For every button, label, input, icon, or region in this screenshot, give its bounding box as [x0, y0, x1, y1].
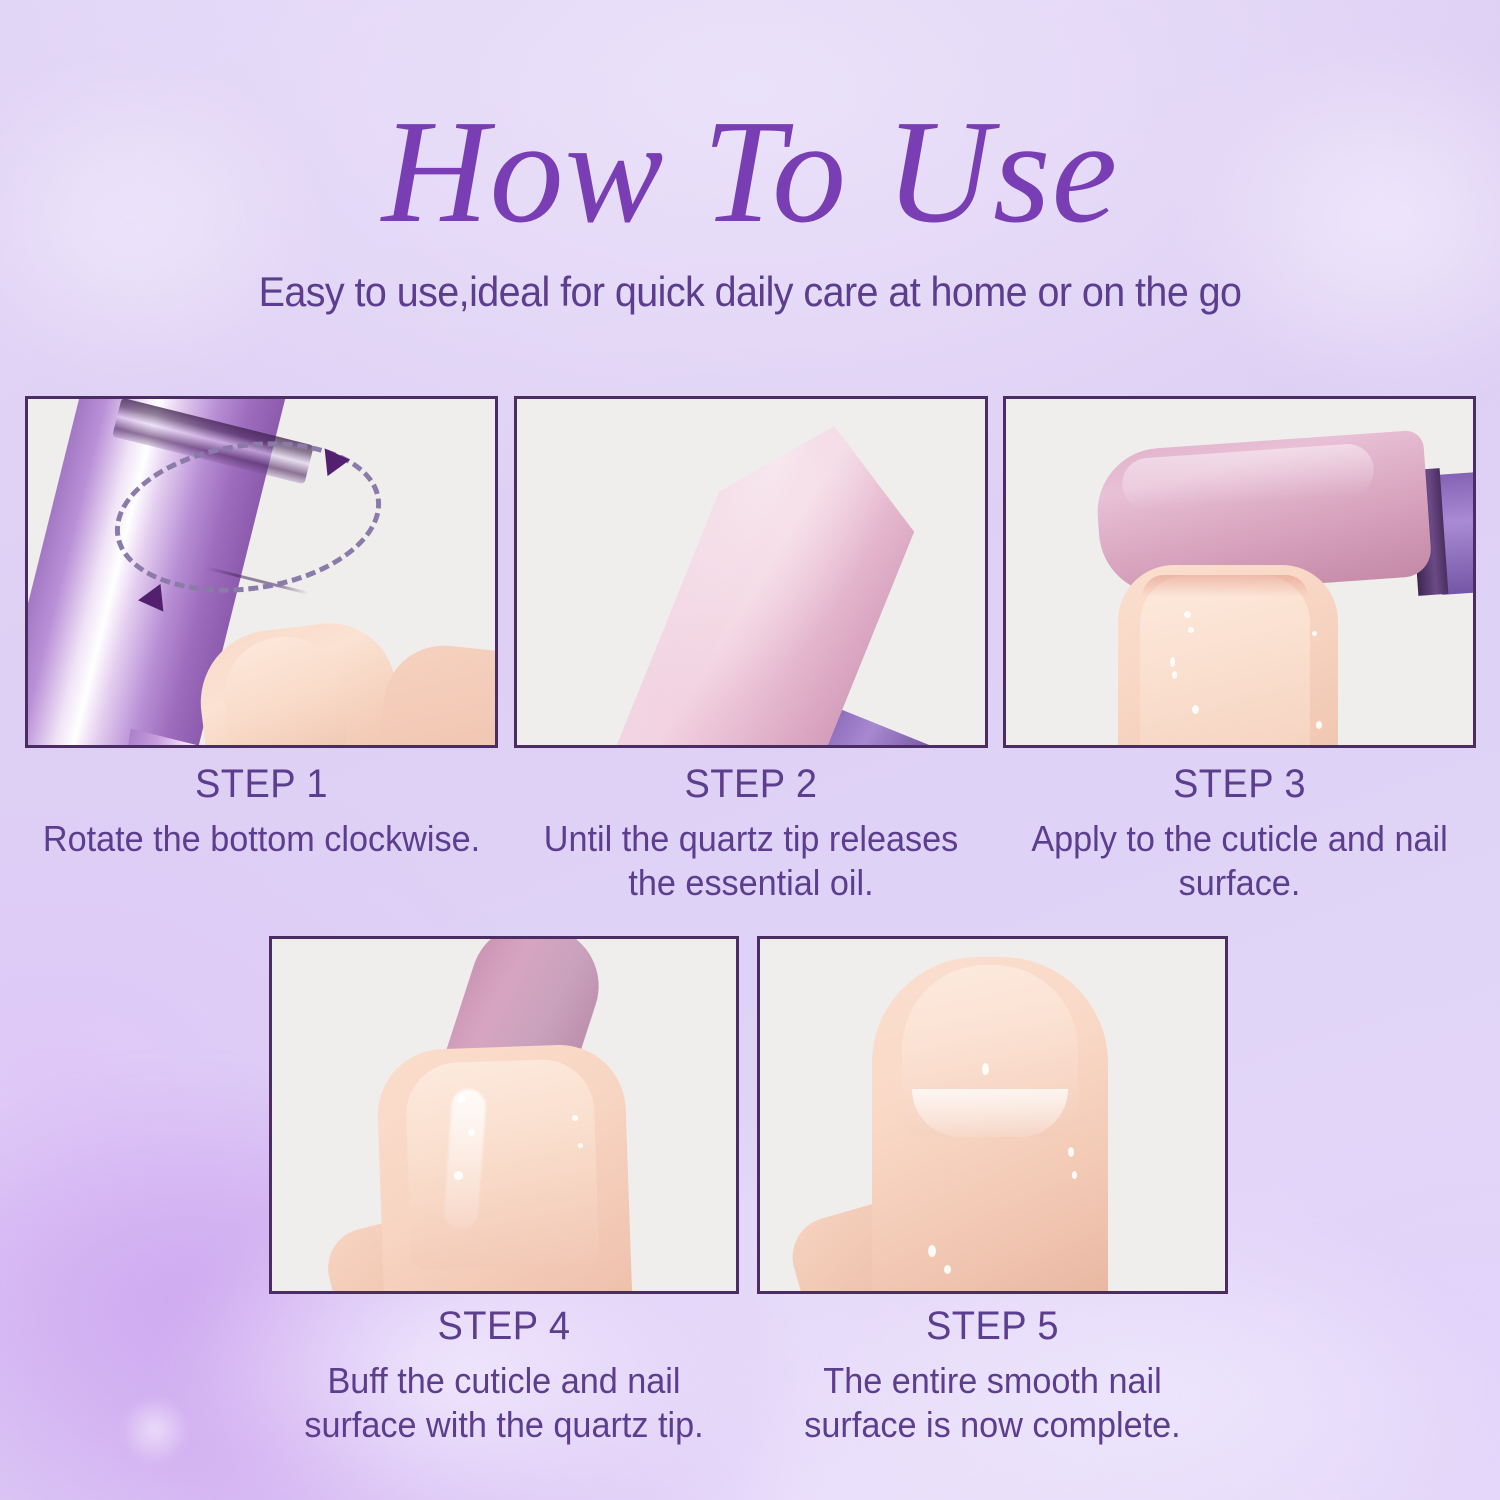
rotation-arrowhead-top-icon	[325, 446, 352, 476]
oil-droplet	[928, 1245, 936, 1257]
step-4-caption: STEP 4 Buff the cuticle and nail surface…	[269, 1304, 739, 1447]
nail-shape	[1140, 575, 1310, 748]
nail-highlight	[912, 1089, 1068, 1137]
oil-droplet	[454, 1171, 463, 1180]
step-3-image	[1003, 396, 1476, 748]
step-3-description: Apply to the cuticle and nail surface.	[1015, 817, 1464, 905]
step-4-description: Buff the cuticle and nail surface with t…	[281, 1359, 728, 1447]
step-2-illustration	[517, 399, 985, 745]
oil-droplet	[468, 1129, 475, 1136]
cuticle-shape	[1142, 575, 1308, 597]
step-1-description: Rotate the bottom clockwise.	[37, 817, 486, 861]
step-5-image	[757, 936, 1228, 1294]
oil-droplet	[1312, 631, 1317, 636]
step-5-illustration	[760, 939, 1225, 1291]
oil-droplet	[944, 1265, 951, 1274]
oil-droplet	[1184, 611, 1191, 618]
oil-droplet	[1172, 671, 1177, 679]
step-2-description: Until the quartz tip releases the essent…	[526, 817, 976, 905]
step-2-caption: STEP 2 Until the quartz tip releases the…	[514, 762, 988, 905]
quartz-tip-highlight	[608, 396, 940, 748]
oil-droplet	[1068, 1147, 1074, 1157]
step-2-image	[514, 396, 988, 748]
step-1-caption: STEP 1 Rotate the bottom clockwise.	[25, 762, 498, 861]
step-2-label: STEP 2	[526, 762, 976, 807]
step-1-image	[25, 396, 498, 748]
oil-droplet	[572, 1115, 578, 1121]
step-1-illustration	[28, 399, 495, 745]
oil-droplet	[1192, 705, 1199, 714]
step-3-label: STEP 3	[1015, 762, 1464, 807]
how-to-use-infographic: How To Use Easy to use,ideal for quick d…	[0, 0, 1500, 1500]
step-3-caption: STEP 3 Apply to the cuticle and nail sur…	[1003, 762, 1476, 905]
oil-droplet	[1188, 627, 1194, 633]
nail-shape	[404, 1058, 599, 1270]
step-5-description: The entire smooth nail surface is now co…	[769, 1359, 1216, 1447]
step-4-image	[269, 936, 739, 1294]
step-3-illustration	[1006, 399, 1473, 745]
page-subtitle: Easy to use,ideal for quick daily care a…	[45, 268, 1455, 316]
rotation-arrowhead-bottom-icon	[137, 584, 164, 614]
oil-droplet	[1170, 657, 1175, 667]
oil-droplet	[982, 1063, 989, 1075]
oil-droplet	[458, 1095, 466, 1103]
step-5-label: STEP 5	[769, 1304, 1216, 1349]
page-title: How To Use	[0, 98, 1500, 246]
index-finger-shape	[370, 640, 498, 748]
oil-droplet	[1072, 1171, 1077, 1179]
oil-droplet	[578, 1143, 583, 1148]
step-5-caption: STEP 5 The entire smooth nail surface is…	[757, 1304, 1228, 1447]
step-4-illustration	[272, 939, 736, 1291]
step-4-label: STEP 4	[281, 1304, 728, 1349]
oil-droplet	[1316, 721, 1322, 729]
step-1-label: STEP 1	[37, 762, 486, 807]
